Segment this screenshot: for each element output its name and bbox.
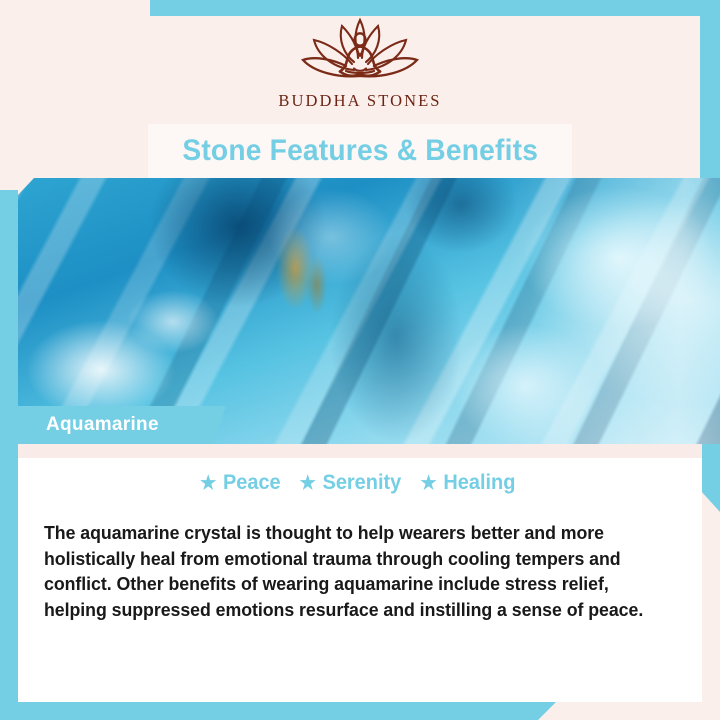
star-icon: ★ — [420, 474, 436, 493]
keyword-label: Healing — [443, 471, 515, 495]
keyword-label: Peace — [223, 471, 281, 495]
brand-wordmark: BUDDHA STONES — [278, 91, 441, 111]
decorative-band-top — [150, 0, 720, 16]
page-title: Stone Features & Benefits — [182, 134, 538, 168]
page-title-plaque: Stone Features & Benefits — [148, 124, 572, 178]
stone-details-panel: ★ Peace ★ Serenity ★ Healing The aquamar… — [18, 458, 702, 702]
section-separator — [18, 444, 702, 458]
keyword-label: Serenity — [322, 471, 401, 495]
keyword-item: ★ Healing — [420, 471, 515, 495]
decorative-band-bottom — [0, 702, 556, 720]
crystal-sheen — [0, 178, 720, 444]
keyword-item: ★ Serenity — [300, 471, 402, 495]
stone-feature-card: BUDDHA STONES Stone Features & Benefits … — [0, 0, 720, 720]
star-icon: ★ — [200, 474, 216, 493]
stone-keyword-list: ★ Peace ★ Serenity ★ Healing — [44, 464, 672, 502]
hero-left-band — [0, 190, 18, 444]
lotus-meditation-figure-icon — [276, 16, 444, 88]
stone-name-label: Aquamarine — [46, 414, 159, 436]
stone-hero-image — [0, 178, 720, 444]
star-icon: ★ — [300, 474, 316, 493]
brand-logo: BUDDHA STONES — [0, 16, 720, 128]
stone-description: The aquamarine crystal is thought to hel… — [44, 520, 650, 622]
keyword-item: ★ Peace — [200, 471, 281, 495]
stone-name-banner: Aquamarine — [18, 406, 226, 444]
